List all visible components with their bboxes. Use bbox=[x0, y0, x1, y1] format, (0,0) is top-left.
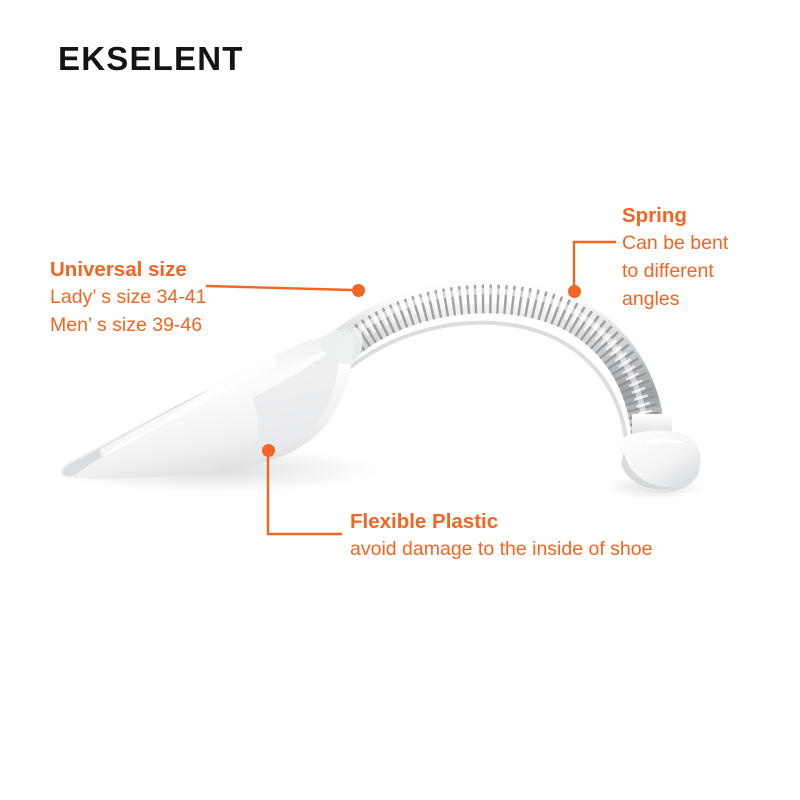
callout-flexible-plastic: Flexible Plastic avoid damage to the ins… bbox=[350, 509, 652, 563]
spring-arm bbox=[336, 291, 648, 450]
callout-spring-line-3: angles bbox=[622, 285, 772, 313]
leader-line-plastic bbox=[268, 456, 342, 534]
brand-wordmark: EKSELENT bbox=[58, 40, 244, 78]
callout-spring: Spring Can be bent to different angles bbox=[622, 203, 772, 313]
callout-universal-line-1: Lady’ s size 34-41 bbox=[50, 283, 206, 311]
callout-dot-universal bbox=[352, 284, 365, 297]
callout-leader-lines bbox=[0, 0, 800, 800]
callout-plastic-title: Flexible Plastic bbox=[350, 509, 652, 535]
callout-universal-size: Universal size Lady’ s size 34-41 Men’ s… bbox=[50, 257, 206, 339]
plastic-toe-body bbox=[60, 328, 363, 478]
product-infographic: EKSELENT bbox=[0, 0, 800, 800]
product-shadow bbox=[40, 444, 390, 496]
leader-line-spring bbox=[574, 242, 616, 291]
callout-spring-line-2: to different bbox=[622, 257, 772, 285]
product-image bbox=[0, 0, 800, 800]
callout-dot-spring bbox=[568, 285, 581, 298]
leader-line-universal bbox=[206, 286, 352, 290]
callout-dot-plastic bbox=[262, 444, 275, 457]
heel-end-cap bbox=[620, 414, 701, 493]
callout-universal-line-2: Men’ s size 39-46 bbox=[50, 311, 206, 339]
heel-shadow bbox=[603, 473, 707, 501]
callout-spring-title: Spring bbox=[622, 203, 772, 229]
callout-plastic-line-1: avoid damage to the inside of shoe bbox=[350, 535, 652, 563]
callout-universal-title: Universal size bbox=[50, 257, 206, 283]
callout-spring-line-1: Can be bent bbox=[622, 229, 772, 257]
